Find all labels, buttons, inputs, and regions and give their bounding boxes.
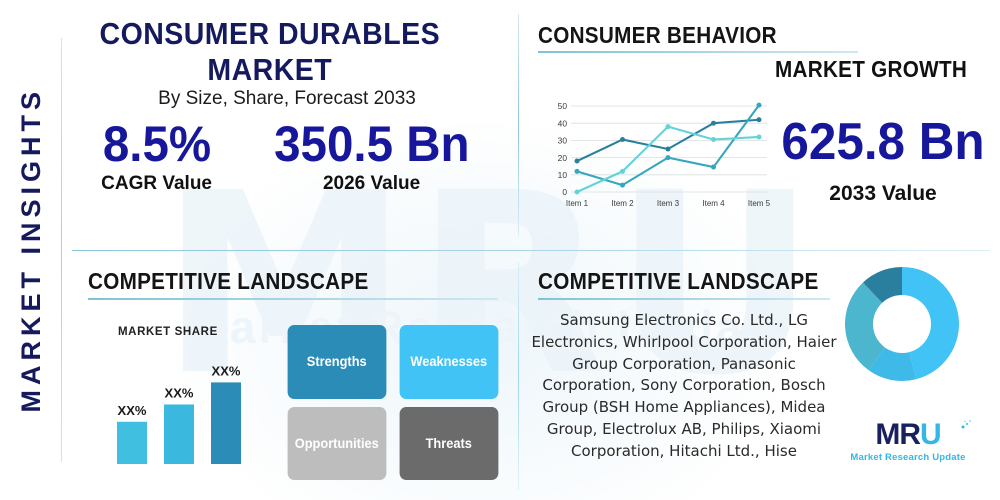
market-growth-label: 2033 Value — [770, 182, 996, 206]
svg-text:XX%: XX% — [165, 385, 194, 400]
infographic-root: MRU Market Research Update MARKET INSIGH… — [0, 0, 1000, 500]
kpi-row: 8.5% CAGR Value 350.5 Bn 2026 Value — [72, 118, 502, 195]
swot-box-opportunities[interactable]: Opportunities — [288, 407, 386, 481]
company-list: Samsung Electronics Co. Ltd., LG Electro… — [528, 310, 840, 462]
rail-label: MARKET INSIGHTS — [16, 87, 47, 413]
kpi-cagr-label: CAGR Value — [100, 173, 214, 195]
swot-box-weaknesses[interactable]: Weaknesses — [399, 325, 497, 399]
vertical-divider-top — [518, 14, 519, 236]
page-subtitle: By Size, Share, Forecast 2033 — [72, 88, 502, 110]
kpi-2026-label: 2026 Value — [269, 173, 475, 195]
kpi-2026: 350.5 Bn 2026 Value — [269, 118, 475, 195]
svg-text:30: 30 — [558, 136, 568, 146]
kpi-cagr: 8.5% CAGR Value — [100, 118, 214, 195]
svg-text:Item 2: Item 2 — [611, 199, 634, 208]
vertical-rail: MARKET INSIGHTS — [0, 0, 62, 500]
svg-text:0: 0 — [562, 187, 567, 197]
rail-divider — [61, 38, 62, 462]
svg-text:Item 1: Item 1 — [566, 199, 589, 208]
consumer-behavior-line-chart: 01020304050Item 1Item 2Item 3Item 4Item … — [545, 100, 770, 212]
consumer-behavior-underline — [538, 51, 858, 53]
competitive-landscape-left-underline — [88, 298, 498, 300]
swot-label: Opportunities — [295, 436, 379, 451]
svg-text:50: 50 — [558, 101, 568, 111]
logo-mark-dark: MR — [875, 418, 920, 451]
svg-text:Item 5: Item 5 — [748, 199, 770, 208]
swot-grid: StrengthsWeaknessesOpportunitiesThreats — [285, 325, 500, 480]
swot-label: Weaknesses — [410, 354, 487, 369]
kpi-cagr-value: 8.5% — [102, 118, 210, 171]
market-share-bar-chart: XX%XX%XX% — [105, 336, 265, 474]
competitive-landscape-right-heading: COMPETITIVE LANDSCAPE — [538, 268, 819, 295]
logo-mark-light: U — [920, 418, 941, 451]
market-share-donut-chart — [843, 265, 961, 383]
vertical-divider-bottom — [518, 262, 519, 490]
logo-mark: MRU — [875, 420, 940, 450]
svg-text:Item 4: Item 4 — [702, 199, 725, 208]
svg-text:20: 20 — [558, 153, 568, 163]
horizontal-divider — [72, 250, 990, 251]
svg-text:XX%: XX% — [118, 403, 147, 418]
competitive-landscape-left-heading: COMPETITIVE LANDSCAPE — [88, 268, 369, 295]
logo-tagline: Market Research Update — [848, 452, 968, 463]
page-title: CONSUMER DURABLES MARKET — [72, 16, 468, 88]
swot-label: Strengths — [307, 354, 367, 369]
svg-text:Item 3: Item 3 — [657, 199, 680, 208]
swot-box-strengths[interactable]: Strengths — [288, 325, 386, 399]
competitive-landscape-right-underline — [538, 298, 830, 300]
swot-label: Threats — [425, 436, 471, 451]
kpi-2026-value: 350.5 Bn — [274, 118, 469, 171]
brand-logo: MRU Market Research Update — [848, 420, 968, 463]
swot-box-threats[interactable]: Threats — [399, 407, 497, 481]
svg-text:40: 40 — [558, 118, 568, 128]
svg-text:XX%: XX% — [212, 363, 241, 378]
logo-dots-icon — [959, 418, 973, 432]
market-growth-heading: MARKET GROWTH — [775, 56, 967, 83]
consumer-behavior-heading: CONSUMER BEHAVIOR — [538, 22, 777, 49]
market-growth-value: 625.8 Bn — [776, 112, 991, 172]
svg-text:10: 10 — [558, 170, 568, 180]
